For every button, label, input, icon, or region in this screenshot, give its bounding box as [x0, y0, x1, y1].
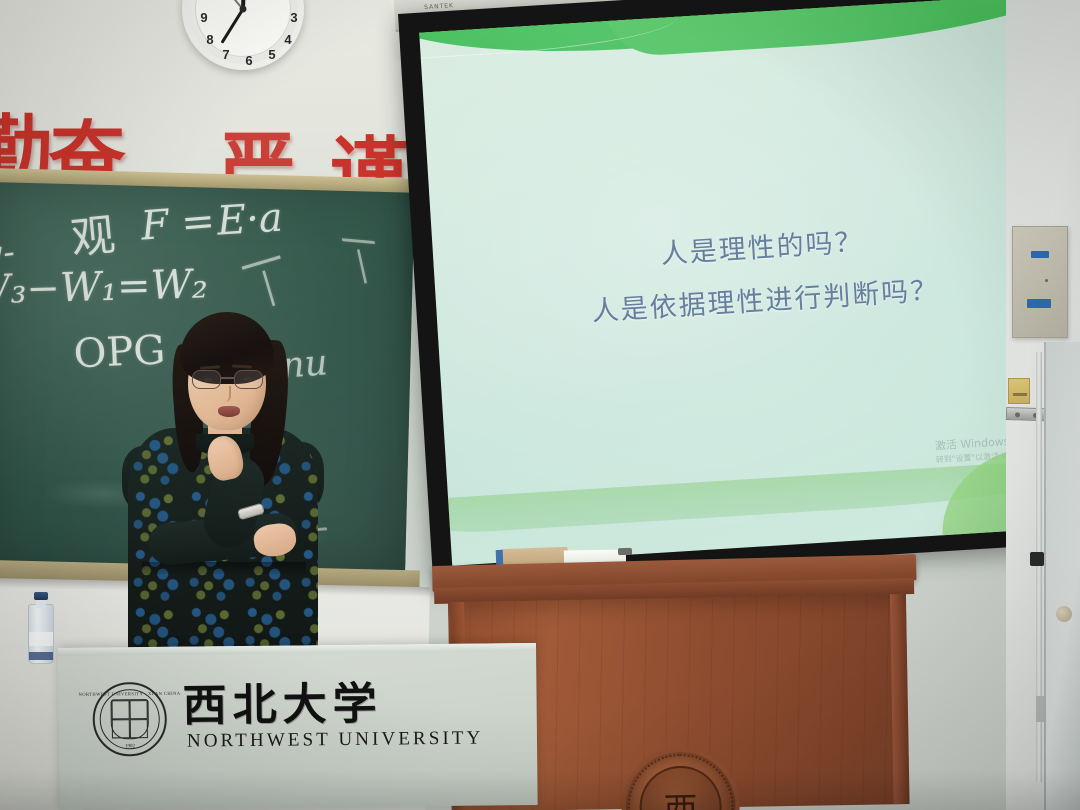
chalk-note-3: E·a: [216, 195, 284, 245]
conduit-clip: [1030, 552, 1044, 566]
university-logo: NORTHWEST UNIVERSITY · XI'AN CHINA 1902 …: [92, 677, 513, 757]
slogan-char-2: 奋: [48, 96, 126, 180]
university-name-cn: 西北大学: [182, 682, 483, 729]
lens-right: [234, 370, 263, 389]
clock-number-2: 2: [280, 0, 296, 3]
clock-number-9: 9: [196, 10, 212, 25]
whiteboard-bracket: [1036, 696, 1044, 722]
university-name-en: NORTHWEST UNIVERSITY: [183, 728, 484, 753]
lecture-hall-photo: 勤 奋 严 谨 12 1 2 3 4 5 6 7 8 9 10 11 SEIKO: [0, 0, 1080, 810]
panel-label-bottom: [1027, 299, 1051, 308]
podium-seal-glyph: 西: [663, 782, 698, 810]
conduit-knob: [1056, 606, 1072, 622]
clock-face: 12 1 2 3 4 5 6 7 8 9 10 11 SEIKO: [195, 0, 291, 57]
side-whiteboard: [1044, 342, 1080, 810]
shield-quadrant-4: [130, 719, 148, 738]
clock-number-7: 7: [218, 47, 234, 62]
water-bottle: [28, 592, 54, 664]
seal-year: 1902: [125, 744, 135, 749]
lens-left: [192, 370, 221, 389]
chalk-note-1: 观: [68, 199, 118, 267]
power-outlet[interactable]: [1008, 378, 1030, 404]
shield-quadrant-1: [112, 700, 130, 719]
lecturer: [112, 300, 332, 680]
slogan-char-3: 严: [218, 106, 296, 180]
lectern-front-panel: NORTHWEST UNIVERSITY · XI'AN CHINA 1902 …: [58, 643, 538, 810]
chalk-note-2: F =: [139, 198, 216, 250]
clock-number-4: 4: [280, 32, 296, 47]
clock-number-6: 6: [241, 53, 257, 68]
bottle-label-band: [29, 652, 53, 660]
outlet-slot: [1013, 393, 1027, 396]
shield-quadrant-3: [112, 719, 130, 738]
wall-slogan-banner: 勤 奋 严 谨: [0, 60, 430, 180]
wall-electrical-panel: [1012, 226, 1068, 338]
seal-ring-text: NORTHWEST UNIVERSITY · XI'AN CHINA: [78, 691, 180, 697]
bracket-hole-1: [1015, 412, 1020, 417]
clock-number-3: 3: [286, 10, 302, 25]
clock-number-10: 10: [202, 0, 218, 3]
slogan-char-1: 勤: [0, 90, 52, 180]
panel-label-top: [1031, 251, 1049, 258]
university-seal-icon: NORTHWEST UNIVERSITY · XI'AN CHINA 1902: [92, 682, 167, 757]
glasses-bridge: [221, 377, 234, 379]
clock-number-8: 8: [202, 32, 218, 47]
shield-quadrant-2: [130, 700, 148, 719]
seal-shield: [111, 699, 149, 739]
university-name-block: 西北大学 NORTHWEST UNIVERSITY: [182, 682, 483, 753]
clock-center-pin: [240, 6, 247, 13]
projection-screen: 人是理性的吗？ 人是依据理性进行判断吗？ 激活 Windows 转到"设置"以激…: [398, 0, 1080, 583]
podium-clip: [618, 548, 632, 555]
panel-screw: [1045, 279, 1048, 282]
bottle-cap: [34, 592, 48, 600]
slogan-char-4: 谨: [330, 112, 408, 180]
mouth: [218, 406, 240, 417]
clock-number-5: 5: [264, 47, 280, 62]
bottle-label: [29, 632, 53, 646]
slide-surface: 人是理性的吗？ 人是依据理性进行判断吗？ 激活 Windows 转到"设置"以激…: [419, 0, 1080, 566]
